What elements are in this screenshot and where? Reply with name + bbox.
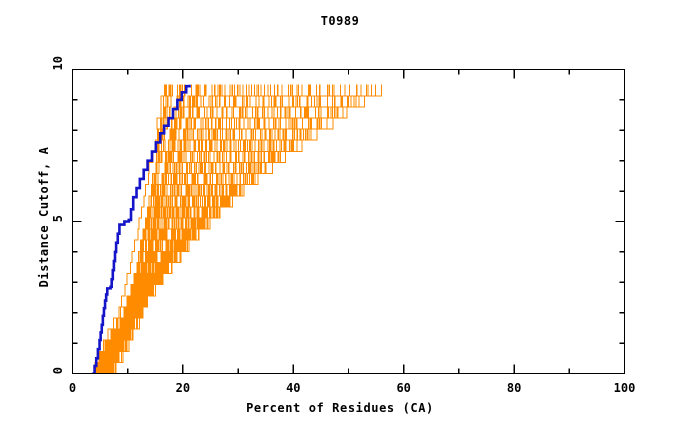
curve-layer — [91, 85, 381, 374]
y-tick-label: 5 — [51, 215, 65, 222]
ensemble-curve — [98, 85, 345, 374]
x-tick-label: 80 — [507, 381, 521, 395]
y-tick-label: 0 — [51, 367, 65, 374]
plot-canvas — [0, 0, 680, 440]
x-tick-label: 0 — [69, 381, 76, 395]
x-tick-label: 20 — [176, 381, 190, 395]
ensemble-curve — [95, 85, 371, 374]
chart-figure: T0989 Percent of Residues (CA) Distance … — [0, 0, 680, 440]
x-tick-label: 100 — [614, 381, 636, 395]
x-tick-label: 60 — [396, 381, 410, 395]
x-axis-label: Percent of Residues (CA) — [0, 401, 680, 415]
y-tick-label: 10 — [51, 56, 65, 70]
ensemble-curve — [95, 85, 367, 374]
ensemble-curve — [103, 85, 332, 374]
x-tick-label: 40 — [286, 381, 300, 395]
y-axis-label: Distance Cutoff, A — [37, 77, 51, 357]
